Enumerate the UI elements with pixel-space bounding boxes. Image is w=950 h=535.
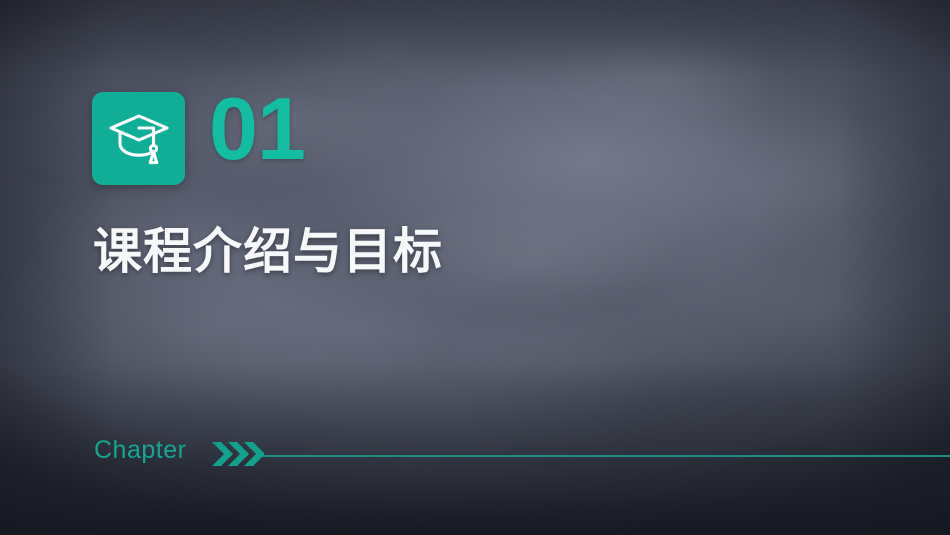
slide-content: 01 课程介绍与目标 Chapter [0,0,950,535]
chapter-label: Chapter [94,436,186,465]
chevron-arrows-icon [212,441,264,467]
footer-divider-line [262,455,950,457]
section-number: 01 [209,85,305,173]
page-title: 课程介绍与目标 [93,224,443,282]
graduation-cap-icon [108,112,170,166]
section-badge-row: 01 [92,92,305,185]
chapter-footer: Chapter [0,432,950,478]
section-icon-tile [92,92,185,185]
presentation-slide: 01 课程介绍与目标 Chapter [0,0,950,535]
